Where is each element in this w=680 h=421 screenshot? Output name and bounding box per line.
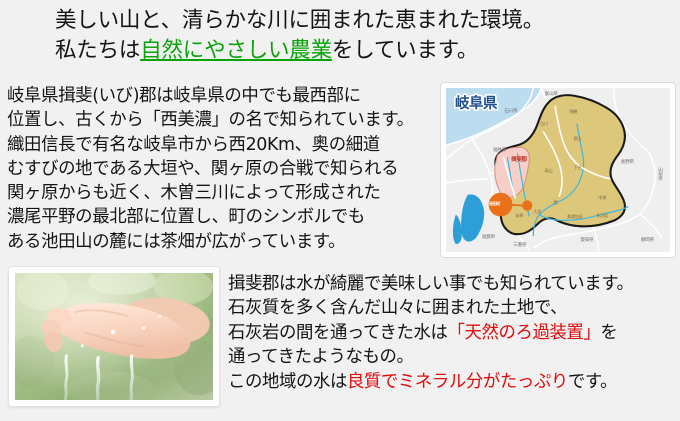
marker-connector [507, 205, 523, 206]
water-red-phrase-mineral: 良質でミネラル分がたっぷり [347, 372, 568, 392]
map-label-yamanashi: 山梨県 [657, 167, 663, 180]
map-label-minokamo: 美濃加茂 [567, 214, 583, 220]
map-label-mie: 三重県 [513, 242, 526, 248]
hands-with-water-image [15, 273, 213, 400]
map-label-shizuoka: 静岡県 [641, 237, 654, 243]
map-label-fukui: 福井県 [493, 147, 506, 153]
gifu-map-card: 岐阜県 揖斐郡 富山県 石川県 福井県 長野県 山梨県 滋賀県 三重県 愛知県 … [440, 82, 676, 258]
map-label-tajimi: 多治見 [596, 213, 608, 219]
header-line-2: 私たちは自然にやさしい農業をしています。 [55, 36, 680, 66]
map-label-takayama: 高山 [545, 168, 553, 174]
header-line-1: 美しい山と、清らかな川に囲まれた恵まれた環境。 [55, 6, 680, 36]
water-line-2: 石灰質を多く含んだ山々に囲まれた土地で、 [228, 296, 680, 320]
map-label-aichi: 愛知県 [580, 237, 593, 243]
water-photo [15, 273, 213, 400]
map-canvas: 岐阜県 揖斐郡 富山県 石川県 福井県 長野県 山梨県 滋賀県 三重県 愛知県 … [446, 88, 670, 252]
water-line-3-pre: 石灰岩の間を通ってきた水は [228, 323, 448, 343]
map-label-nakatsu: 中津 [598, 195, 606, 201]
intro-line: 濃尾平野の最北部に位置し、町のシンボルでも [7, 205, 439, 229]
water-line-5-post: です。 [568, 372, 617, 392]
map-label-toyama: 富山県 [545, 91, 558, 97]
map-title: 岐阜県 [455, 92, 497, 113]
intro-line: 織田信長で有名な岐阜市から西20Km、奥の細道 [7, 133, 439, 157]
intro-line: むすびの地である大垣や、関ヶ原の合戦で知られる [7, 157, 439, 181]
map-label-nagano: 長野県 [621, 159, 634, 165]
map-label-gifu-city: 岐阜 [515, 213, 523, 219]
marker-secondary-circle [522, 200, 532, 210]
map-label-ibi-district: 揖斐郡 [511, 155, 527, 163]
water-line-3: 石灰岩の間を通ってきた水は「天然のろ過装置」を [228, 321, 680, 345]
promo-page: 美しい山と、清らかな川に囲まれた恵まれた環境。 私たちは自然にやさしい農業をして… [0, 0, 680, 421]
header-green-phrase: 自然にやさしい農業 [140, 38, 332, 63]
map-label-seki: 関 [554, 200, 558, 206]
map-label-ogaki: 大垣 [533, 209, 541, 215]
water-photo-card [8, 266, 220, 407]
intro-line: 関ヶ原からも近く、木曽三川によって形成された [7, 181, 439, 205]
header-line-2-pre: 私たちは [55, 38, 140, 63]
map-label-hida: 飛騨 [569, 109, 577, 115]
header-line-2-post: をしています。 [332, 38, 478, 63]
intro-line: 岐阜県揖斐(いび)郡は岐阜県の中でも最西部に [7, 84, 439, 108]
water-red-phrase-filter: 「天然のろ過装置」 [448, 323, 601, 343]
map-label-gero: 下呂 [574, 165, 582, 171]
map-label-shiga: 滋賀県 [482, 234, 495, 240]
page-header: 美しい山と、清らかな川に囲まれた恵まれた環境。 私たちは自然にやさしい農業をして… [0, 6, 680, 66]
map-label-ishikawa: 石川県 [504, 108, 517, 114]
water-line-4: 通ってきたようなもの。 [228, 345, 680, 369]
map-label-gujo: 郡上 [574, 136, 582, 142]
map-label-shirakawa: 白川 [540, 121, 548, 127]
water-line-1: 揖斐郡は水が綺麗で美味しい事でも知られています。 [228, 272, 680, 296]
water-line-5-pre: この地域の水は [228, 372, 347, 392]
water-paragraph: 揖斐郡は水が綺麗で美味しい事でも知られています。 石灰質を多く含んだ山々に囲まれ… [228, 272, 680, 394]
map-marker-label-ikeda: 池田町 [489, 201, 501, 207]
intro-line: 位置し、古くから「西美濃」の名で知られています。 [7, 108, 439, 132]
water-line-5: この地域の水は良質でミネラル分がたっぷりです。 [228, 370, 680, 394]
water-line-3-post: を [600, 323, 617, 343]
intro-paragraph: 岐阜県揖斐(いび)郡は岐阜県の中でも最西部に 位置し、古くから「西美濃」の名で知… [7, 84, 439, 254]
intro-line: ある池田山の麓には茶畑が広がっています。 [7, 230, 439, 254]
